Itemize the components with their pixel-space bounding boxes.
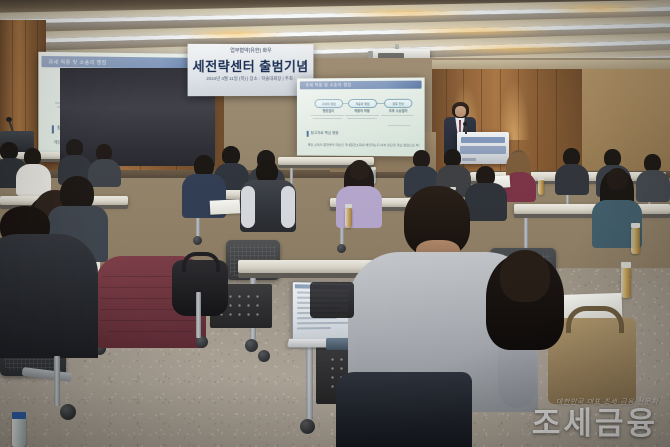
slide-stage-pill-2-right: 적용의 쟁점 (348, 99, 377, 108)
slide-stage-pill-1-right: 과세의 쟁점 (315, 99, 344, 108)
slide-header-text-right: 과세 적용 및 소송의 쟁점 (305, 82, 351, 88)
seminar-room-photo: 과세 적용 및 소송의 쟁점 과세의 쟁점 적용의 쟁점 향후 전망 행정절차 … (0, 0, 670, 447)
slide-stage-pill-3-right: 향후 전망 (384, 99, 412, 108)
slide-bullet-right: 해당 소득이 종전부터 대상인 국내원천소득에 해당하는지 여부 판단과 핵심 … (308, 142, 420, 148)
bag (310, 282, 354, 318)
water-bottle (345, 208, 352, 228)
banner-subtitle: 업무협약(유한) 화우 (188, 47, 314, 54)
water-bottle (538, 180, 544, 195)
shirt-sleeve (281, 186, 295, 228)
banner-details: 2024년 4월 11일 (목) | 장소 : 학술대회장 | 주최 : (188, 76, 314, 82)
water-bottle (621, 268, 631, 298)
lectern-sign (457, 132, 509, 164)
backpack-handle (182, 252, 220, 272)
slide-section-label-right: 참고자료 핵심 쟁점 (311, 131, 339, 136)
coat-on-chair (336, 372, 472, 447)
projection-screen-right: 과세 적용 및 소송의 쟁점 과세의 쟁점 적용의 쟁점 향후 전망 행정절차 … (297, 78, 425, 157)
slide-header-text-left: 과세 적용 및 소송의 쟁점 (48, 58, 106, 66)
handout-paper (210, 199, 241, 215)
shirt-sleeve (241, 186, 255, 228)
wall-soffit (432, 60, 670, 69)
tote-handle (566, 306, 624, 333)
water-bottle (631, 228, 640, 254)
event-banner: 업무협약(유한) 화우 세전략센터 출범기념 2024년 4월 11일 (목) … (188, 44, 314, 96)
water-bottle (12, 418, 26, 447)
slide-header-bar-right: 과세 적용 및 소송의 쟁점 (299, 81, 422, 90)
banner-headline: 세전략센터 출범기념 (188, 56, 314, 75)
